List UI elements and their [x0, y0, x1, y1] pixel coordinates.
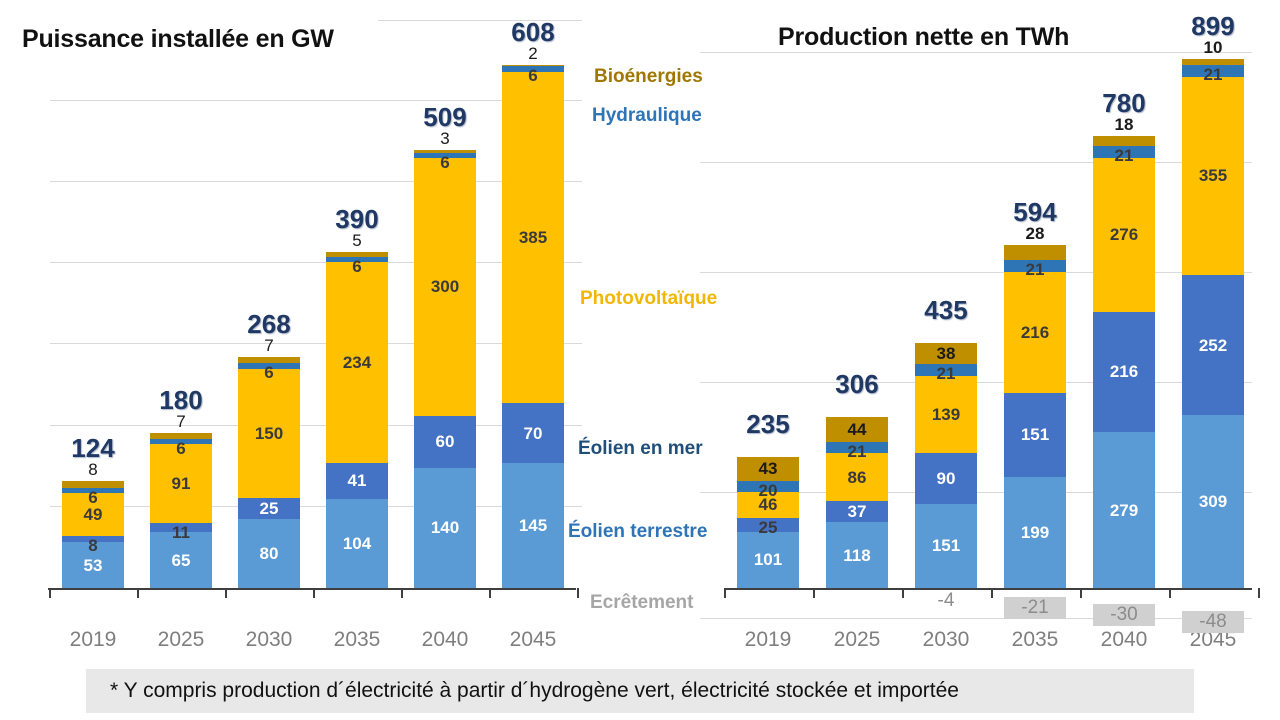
bar-segment-value: 38	[937, 345, 956, 362]
bar-segment-value: 41	[348, 472, 367, 489]
bar-segment-bioenergies[interactable]: 44	[826, 417, 888, 442]
bar-segment-eolien-terrestre[interactable]: 199	[1004, 477, 1066, 588]
footnote: * Y compris production d´électricité à p…	[86, 669, 1194, 713]
legend-item-photovoltaique[interactable]: Photovoltaïque	[580, 288, 717, 310]
bar-segment-eolien-en-mer[interactable]: 11	[150, 523, 212, 532]
bar-2019[interactable]: 5384968	[62, 20, 124, 588]
bar-segment-eolien-en-mer[interactable]: 151	[1004, 393, 1066, 477]
bar-segment-value: 216	[1021, 324, 1049, 341]
bar-segment-bioenergies[interactable]: 8	[62, 481, 124, 488]
x-axis-line	[724, 588, 1252, 590]
bar-segment-value: 80	[260, 545, 279, 562]
bar-segment-eolien-en-mer[interactable]: 41	[326, 463, 388, 498]
bar-segment-value: 140	[431, 519, 459, 536]
bar-segment-value: 279	[1110, 502, 1138, 519]
ecretement-value-2045: -48	[1182, 611, 1244, 633]
x-axis-tick	[991, 588, 993, 598]
bar-segment-value: 6	[440, 154, 449, 171]
bar-segment-hydraulique[interactable]: 6	[62, 488, 124, 493]
bar-segment-eolien-en-mer[interactable]: 37	[826, 501, 888, 522]
bar-segment-hydraulique[interactable]: 21	[1093, 146, 1155, 158]
bar-2019[interactable]: 10125462043	[737, 52, 799, 588]
bar-segment-value: 199	[1021, 524, 1049, 541]
ecretement-value-2040: -30	[1093, 604, 1155, 626]
chart-production-nette: Production nette en TWh 1012546204323520…	[700, 0, 1280, 660]
bar-segment-hydraulique[interactable]: 6	[238, 363, 300, 368]
bar-segment-value: 65	[172, 552, 191, 569]
bar-2045[interactable]: 1457038562	[502, 20, 564, 588]
gridline	[700, 618, 1252, 619]
x-axis-label-2030: 2030	[219, 628, 319, 652]
x-axis-tick	[813, 588, 815, 598]
bar-segment-value: 86	[848, 469, 867, 486]
x-axis-tick	[401, 588, 403, 598]
bar-segment-photovoltaique[interactable]: 139	[915, 376, 977, 454]
bar-segment-value: 20	[759, 482, 778, 499]
bar-segment-bioenergies[interactable]: 10	[1182, 59, 1244, 65]
bar-2035[interactable]: 1991512162128	[1004, 52, 1066, 588]
bar-segment-value: 118	[843, 547, 870, 564]
ecretement-value-2035: -21	[1004, 597, 1066, 619]
bar-segment-value: 90	[937, 470, 956, 487]
bar-segment-eolien-en-mer[interactable]: 60	[414, 416, 476, 468]
bar-segment-hydraulique[interactable]: 20	[737, 481, 799, 492]
bar-total-2045: 899	[1163, 11, 1263, 42]
bar-segment-hydraulique[interactable]: 21	[915, 364, 977, 376]
bar-segment-value: 21	[1026, 261, 1045, 278]
bar-total-2019: 235	[718, 409, 818, 440]
x-axis-line	[48, 588, 576, 590]
bar-segment-value: 300	[431, 278, 459, 295]
bar-total-2019: 124	[43, 433, 143, 464]
x-axis-tick	[313, 588, 315, 598]
bar-segment-photovoltaique[interactable]: 385	[502, 72, 564, 403]
x-axis-tick	[1169, 588, 1171, 598]
bar-segment-hydraulique[interactable]: 21	[1004, 260, 1066, 272]
bar-segment-eolien-en-mer[interactable]: 252	[1182, 275, 1244, 416]
bar-segment-bioenergies[interactable]: 2	[502, 65, 564, 67]
bar-segment-value: 151	[932, 537, 960, 554]
x-axis-tick	[724, 588, 726, 598]
bar-total-2030: 435	[896, 295, 996, 326]
bar-segment-hydraulique[interactable]: 6	[502, 66, 564, 71]
bar-segment-value: 53	[84, 557, 103, 574]
bar-segment-hydraulique[interactable]: 6	[326, 257, 388, 262]
bar-total-2040: 780	[1074, 88, 1174, 119]
bar-segment-value: 44	[848, 421, 867, 438]
bar-segment-bioenergies[interactable]: 3	[414, 150, 476, 153]
x-axis-tick	[577, 588, 579, 598]
bar-2025[interactable]: 11837862144	[826, 52, 888, 588]
bar-segment-value: 145	[519, 517, 547, 534]
bar-total-2045: 608	[483, 17, 583, 48]
bar-segment-value: 385	[519, 229, 547, 246]
bar-segment-eolien-terrestre[interactable]: 101	[737, 532, 799, 588]
bar-segment-value: 101	[754, 551, 782, 568]
bar-2025[interactable]: 65119167	[150, 20, 212, 588]
bar-segment-bioenergies[interactable]: 7	[238, 357, 300, 363]
bar-segment-bioenergies[interactable]: 18	[1093, 136, 1155, 146]
bar-segment-value: 150	[255, 425, 283, 442]
bar-segment-photovoltaique[interactable]: 355	[1182, 77, 1244, 275]
bar-segment-value: 309	[1199, 493, 1227, 510]
bar-segment-eolien-terrestre[interactable]: 118	[826, 522, 888, 588]
bar-segment-bioenergies[interactable]: 43	[737, 457, 799, 481]
x-axis-label-2025: 2025	[131, 628, 231, 652]
bar-total-2035: 594	[985, 197, 1085, 228]
bar-segment-hydraulique[interactable]: 6	[414, 153, 476, 158]
bar-segment-value: 6	[352, 258, 361, 275]
legend-item-eolien-en-mer[interactable]: Éolien en mer	[578, 438, 703, 460]
bar-segment-value: 25	[260, 500, 279, 517]
bar-segment-value: 49	[84, 506, 103, 523]
x-axis-tick	[137, 588, 139, 598]
x-axis-tick	[49, 588, 51, 598]
bar-segment-bioenergies[interactable]: 7	[150, 433, 212, 439]
legend-item-ecretement[interactable]: Ecrêtement	[590, 592, 694, 614]
bar-segment-eolien-en-mer[interactable]: 216	[1093, 312, 1155, 433]
bar-segment-value: 234	[343, 354, 371, 371]
bar-segment-value: 21	[848, 443, 867, 460]
bar-segment-value: 60	[436, 433, 455, 450]
bar-segment-value: 355	[1199, 167, 1227, 184]
bar-segment-eolien-terrestre[interactable]: 145	[502, 463, 564, 588]
x-axis-label-2019: 2019	[718, 628, 818, 652]
x-axis-tick	[902, 588, 904, 598]
bar-segment-value: 276	[1110, 226, 1138, 243]
bar-segment-eolien-en-mer[interactable]: 8	[62, 536, 124, 543]
x-axis-label-2035: 2035	[985, 628, 1085, 652]
x-axis-label-2035: 2035	[307, 628, 407, 652]
bar-segment-value: 21	[1204, 66, 1223, 83]
x-axis-tick	[1080, 588, 1082, 598]
bar-2030[interactable]: 802515067	[238, 20, 300, 588]
bar-2040[interactable]: 2792162762118	[1093, 52, 1155, 588]
bar-segment-value: 151	[1021, 426, 1049, 443]
bar-segment-photovoltaique[interactable]: 234	[326, 262, 388, 463]
bar-segment-photovoltaique[interactable]: 216	[1004, 272, 1066, 393]
x-axis-tick	[225, 588, 227, 598]
x-axis-label-2019: 2019	[43, 628, 143, 652]
bar-segment-value: 21	[1115, 147, 1134, 164]
bar-total-2030: 268	[219, 309, 319, 340]
bar-segment-photovoltaique[interactable]: 276	[1093, 158, 1155, 312]
bar-segment-value: 21	[937, 365, 956, 382]
bar-segment-value: 6	[176, 440, 185, 457]
bar-segment-value: 37	[848, 503, 867, 520]
legend-item-eolien-terrestre[interactable]: Éolien terrestre	[568, 521, 707, 543]
x-axis-label-2025: 2025	[807, 628, 907, 652]
bar-segment-eolien-en-mer[interactable]: 25	[238, 498, 300, 520]
bar-segment-bioenergies[interactable]: 28	[1004, 245, 1066, 261]
bar-segment-eolien-terrestre[interactable]: 309	[1182, 415, 1244, 588]
x-axis-tick	[489, 588, 491, 598]
bar-segment-value: 6	[264, 364, 273, 381]
bar-segment-eolien-terrestre[interactable]: 279	[1093, 432, 1155, 588]
bar-segment-eolien-en-mer[interactable]: 70	[502, 403, 564, 463]
bar-segment-hydraulique[interactable]: 6	[150, 439, 212, 444]
legend-item-hydraulique[interactable]: Hydraulique	[592, 105, 702, 127]
bar-total-2040: 509	[395, 102, 495, 133]
bar-segment-eolien-en-mer[interactable]: 25	[737, 518, 799, 532]
bar-segment-eolien-en-mer[interactable]: 90	[915, 453, 977, 503]
legend-item-bioenergies[interactable]: Bioénergies	[594, 66, 703, 88]
bar-segment-eolien-terrestre[interactable]: 104	[326, 499, 388, 589]
bar-segment-hydraulique[interactable]: 21	[1182, 65, 1244, 77]
bar-2035[interactable]: 1044123465	[326, 20, 388, 588]
bar-segment-value: 11	[172, 524, 190, 541]
chart-title-production: Production nette en TWh	[778, 23, 1069, 52]
bar-segment-photovoltaique[interactable]: 150	[238, 369, 300, 498]
bar-segment-value: 70	[524, 425, 543, 442]
bar-segment-value: 43	[759, 460, 778, 477]
bar-segment-photovoltaique[interactable]: 300	[414, 158, 476, 416]
bar-segment-value: 104	[343, 535, 371, 552]
x-axis-label-2045: 2045	[483, 628, 583, 652]
bar-segment-value: 91	[172, 475, 191, 492]
x-axis-tick	[1258, 588, 1260, 598]
bar-segment-eolien-terrestre[interactable]: 80	[238, 519, 300, 588]
bar-segment-value: 25	[759, 519, 778, 536]
bar-segment-value: 139	[932, 406, 960, 423]
bar-segment-eolien-terrestre[interactable]: 140	[414, 468, 476, 588]
chart-puissance-installee: Puissance installée en GW 53849681242019…	[0, 0, 620, 660]
bar-total-2035: 390	[307, 204, 407, 235]
bar-segment-hydraulique[interactable]: 21	[826, 442, 888, 454]
x-axis-label-2040: 2040	[395, 628, 495, 652]
bar-segment-value: 252	[1199, 337, 1227, 354]
bar-segment-bioenergies[interactable]: 5	[326, 252, 388, 256]
bar-segment-eolien-terrestre[interactable]: 151	[915, 504, 977, 588]
bar-segment-value: 216	[1110, 363, 1138, 380]
bar-segment-value: 6	[88, 489, 97, 506]
x-axis-label-2030: 2030	[896, 628, 996, 652]
footnote-text: * Y compris production d´électricité à p…	[110, 679, 959, 703]
bar-2045[interactable]: 3092523552110	[1182, 52, 1244, 588]
bar-total-2025: 306	[807, 369, 907, 400]
x-axis-label-2040: 2040	[1074, 628, 1174, 652]
bar-total-2025: 180	[131, 385, 231, 416]
bar-segment-value: 6	[528, 67, 537, 84]
bar-segment-value: 8	[88, 537, 97, 554]
ecretement-value-2030: -4	[915, 590, 977, 612]
bar-segment-bioenergies[interactable]: 38	[915, 343, 977, 364]
